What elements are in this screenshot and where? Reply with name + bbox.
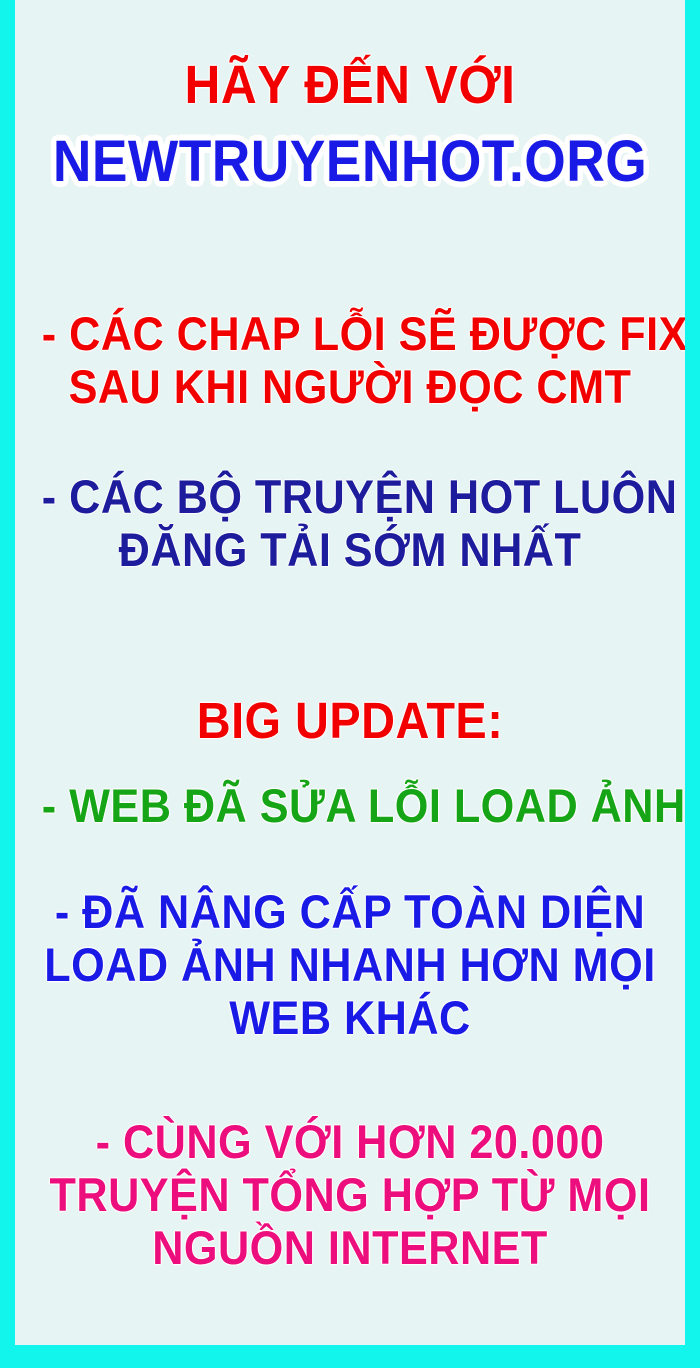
update-image-load-fix-block: - WEB ĐÃ SỬA LỖI LOAD ẢNH	[15, 782, 685, 829]
update-full-upgrade-line-3: WEB KHÁC	[42, 994, 658, 1041]
update-story-count-line-3: NGUỒN INTERNET	[42, 1224, 658, 1271]
update-full-upgrade-line-2: LOAD ẢNH NHANH HƠN MỌI	[42, 941, 658, 988]
big-update-title: BIG UPDATE:	[42, 695, 658, 746]
update-story-count-line-1: - CÙNG VỚI HƠN 20.000	[42, 1118, 658, 1165]
promo-banner: HÃY ĐẾN VỚI NEWTRUYENHOT.ORG - CÁC CHAP …	[0, 0, 700, 1368]
domain-text[interactable]: NEWTRUYENHOT.ORG	[42, 133, 658, 191]
big-update-title-block: BIG UPDATE:	[15, 695, 685, 746]
update-story-count-line-2: TRUYỆN TỔNG HỢP TỪ MỌI	[42, 1171, 658, 1218]
update-full-upgrade-line-1: - ĐÃ NÂNG CẤP TOÀN DIỆN	[42, 888, 658, 935]
update-image-load-fix-line-1: - WEB ĐÃ SỬA LỖI LOAD ẢNH	[42, 782, 658, 829]
promo-panel: HÃY ĐẾN VỚI NEWTRUYENHOT.ORG - CÁC CHAP …	[15, 0, 685, 1345]
note-chap-fix-line-1: - CÁC CHAP LỖI SẼ ĐƯỢC FIX	[42, 310, 658, 357]
update-story-count-block: - CÙNG VỚI HƠN 20.000 TRUYỆN TỔNG HỢP TỪ…	[15, 1118, 685, 1271]
note-hot-series-line-2: ĐĂNG TẢI SỚM NHẤT	[42, 526, 658, 573]
note-hot-series-line-1: - CÁC BỘ TRUYỆN HOT LUÔN	[42, 473, 658, 520]
note-chap-fix-block: - CÁC CHAP LỖI SẼ ĐƯỢC FIX SAU KHI NGƯỜI…	[15, 310, 685, 410]
domain-block[interactable]: NEWTRUYENHOT.ORG	[15, 133, 685, 191]
note-chap-fix-line-2: SAU KHI NGƯỜI ĐỌC CMT	[42, 363, 658, 410]
update-full-upgrade-block: - ĐÃ NÂNG CẤP TOÀN DIỆN LOAD ẢNH NHANH H…	[15, 888, 685, 1041]
headline-block: HÃY ĐẾN VỚI	[15, 58, 685, 112]
note-hot-series-block: - CÁC BỘ TRUYỆN HOT LUÔN ĐĂNG TẢI SỚM NH…	[15, 473, 685, 573]
headline-text: HÃY ĐẾN VỚI	[42, 58, 658, 112]
